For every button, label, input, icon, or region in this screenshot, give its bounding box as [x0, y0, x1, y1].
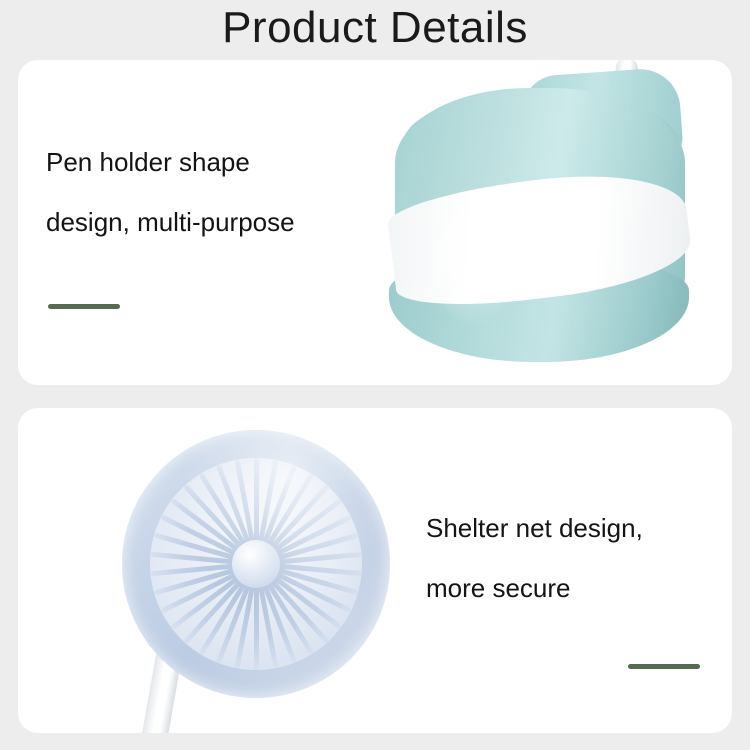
- caption-line-2: design, multi-purpose: [46, 192, 295, 252]
- caption-block-1: Pen holder shape design, multi-purpose: [46, 132, 295, 309]
- caption-line-1: Pen holder shape: [46, 132, 295, 192]
- product-image-fan: [106, 416, 406, 716]
- page-title: Product Details: [0, 2, 750, 54]
- accent-divider: [628, 664, 700, 669]
- caption-block-2: Shelter net design, more secure: [426, 498, 700, 669]
- product-card-fan: Shelter net design, more secure: [18, 408, 732, 733]
- caption-line-2: more secure: [426, 558, 700, 618]
- product-image-pen-holder: [373, 60, 732, 385]
- accent-divider: [48, 304, 120, 309]
- product-card-pen-holder: Pen holder shape design, multi-purpose: [18, 60, 732, 385]
- fan-ring-highlight: [122, 430, 390, 698]
- holder-highlight: [433, 208, 529, 328]
- caption-line-1: Shelter net design,: [426, 498, 700, 558]
